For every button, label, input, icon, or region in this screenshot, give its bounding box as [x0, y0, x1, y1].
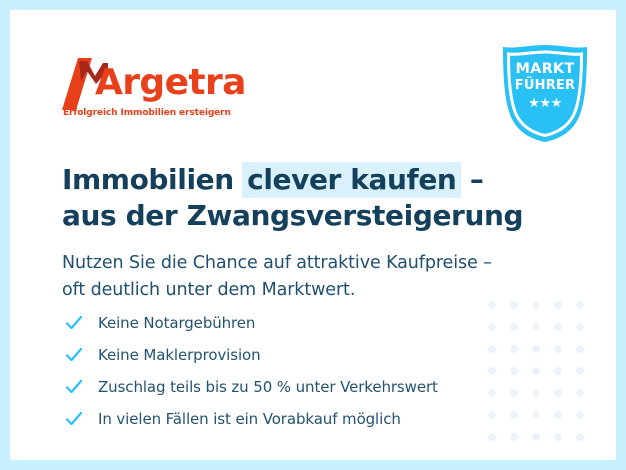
check-icon [64, 345, 84, 365]
dot [554, 389, 562, 397]
dot [554, 411, 562, 419]
headline-highlight: clever kaufen [242, 162, 461, 198]
check-icon [64, 409, 84, 429]
argetra-logo[interactable]: Argetra Erfolgreich Immobilien ersteiger… [62, 54, 272, 122]
dot [554, 345, 562, 353]
dot [576, 345, 584, 353]
benefits-list: Keine Notargebühren Keine Maklerprovisio… [64, 308, 534, 436]
dot [576, 301, 584, 309]
promo-banner: Argetra Erfolgreich Immobilien ersteiger… [0, 0, 626, 470]
check-icon [64, 313, 84, 333]
headline-line-2: aus der Zwangsversteigerung [62, 198, 532, 234]
subheadline: Nutzen Sie die Chance auf attraktive Kau… [62, 250, 552, 304]
headline-line-1: Immobilien clever kaufen – [62, 162, 532, 198]
list-item: Zuschlag teils bis zu 50 % unter Verkehr… [64, 372, 534, 402]
dot [576, 389, 584, 397]
shield-icon [499, 43, 591, 143]
page-title: Immobilien clever kaufen – aus der Zwang… [62, 162, 532, 234]
benefit-label: In vielen Fällen ist ein Vorabkauf mögli… [98, 409, 401, 429]
promo-card: Argetra Erfolgreich Immobilien ersteiger… [10, 10, 616, 460]
logo-wordmark: Argetra [95, 65, 246, 101]
benefit-label: Keine Notargebühren [98, 313, 255, 333]
benefit-label: Zuschlag teils bis zu 50 % unter Verkehr… [98, 377, 438, 397]
subheadline-line-1: Nutzen Sie die Chance auf attraktive Kau… [62, 250, 552, 277]
dot [554, 367, 562, 375]
headline-prefix: Immobilien [62, 163, 243, 196]
dot [554, 301, 562, 309]
dot [576, 367, 584, 375]
benefit-label: Keine Maklerprovision [98, 345, 261, 365]
list-item: Keine Notargebühren [64, 308, 534, 338]
dot [576, 323, 584, 331]
market-leader-badge: MARKT FÜHRER ★★★ [499, 43, 591, 143]
dot [576, 433, 584, 441]
subheadline-line-2: oft deutlich unter dem Marktwert. [62, 277, 552, 304]
dot [576, 411, 584, 419]
dot [554, 323, 562, 331]
dot [554, 433, 562, 441]
logo-tagline: Erfolgreich Immobilien ersteigern [63, 108, 231, 119]
headline-suffix: – [460, 163, 483, 196]
list-item: In vielen Fällen ist ein Vorabkauf mögli… [64, 404, 534, 434]
check-icon [64, 377, 84, 397]
list-item: Keine Maklerprovision [64, 340, 534, 370]
